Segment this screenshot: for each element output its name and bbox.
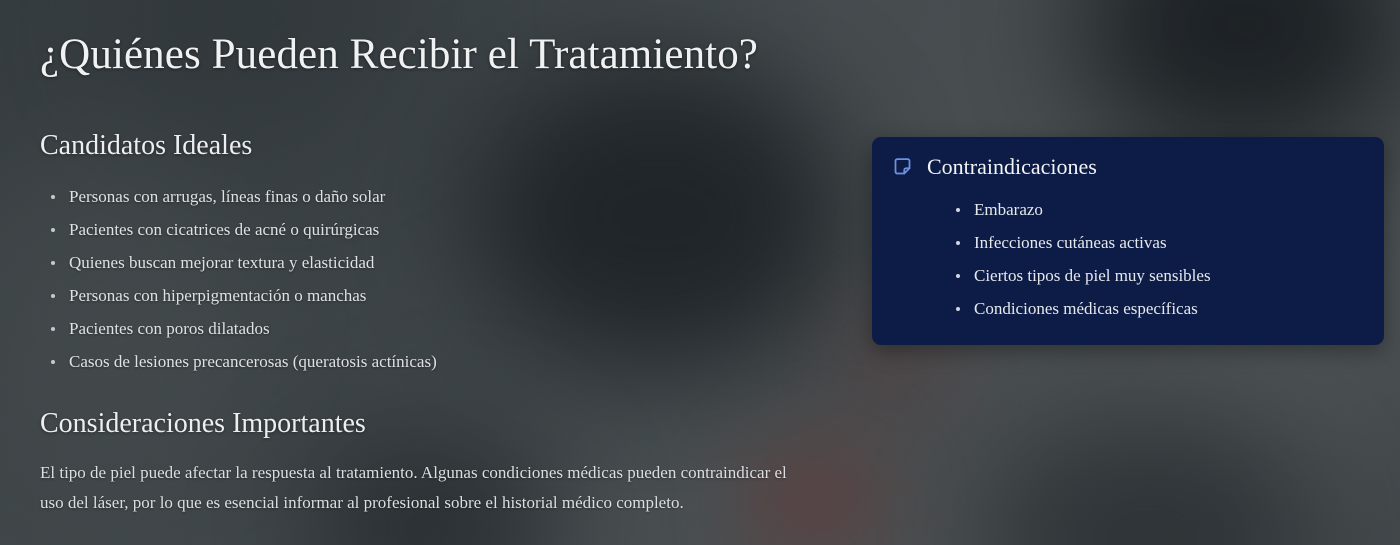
sticky-note-icon bbox=[892, 156, 913, 177]
list-item: Personas con hiperpigmentación o manchas bbox=[40, 279, 840, 312]
candidates-heading: Candidatos Ideales bbox=[40, 128, 840, 164]
contraindications-callout: Contraindicaciones Embarazo Infecciones … bbox=[872, 137, 1384, 345]
list-item: Personas con arrugas, líneas finas o dañ… bbox=[40, 180, 840, 213]
list-item: Infecciones cutáneas activas bbox=[952, 226, 1362, 259]
contraindications-list: Embarazo Infecciones cutáneas activas Ci… bbox=[892, 193, 1362, 325]
list-item: Casos de lesiones precancerosas (querato… bbox=[40, 345, 840, 378]
left-column: Candidatos Ideales Personas con arrugas,… bbox=[40, 128, 840, 518]
page-title: ¿Quiénes Pueden Recibir el Tratamiento? bbox=[40, 30, 758, 79]
list-item: Quienes buscan mejorar textura y elastic… bbox=[40, 246, 840, 279]
list-item: Embarazo bbox=[952, 193, 1362, 226]
callout-title: Contraindicaciones bbox=[927, 153, 1097, 181]
list-item: Pacientes con poros dilatados bbox=[40, 312, 840, 345]
considerations-heading: Consideraciones Importantes bbox=[40, 406, 840, 442]
content-slide: ¿Quiénes Pueden Recibir el Tratamiento? … bbox=[0, 0, 1400, 545]
considerations-paragraph: El tipo de piel puede afectar la respues… bbox=[40, 458, 810, 518]
callout-header: Contraindicaciones bbox=[892, 153, 1362, 181]
list-item: Ciertos tipos de piel muy sensibles bbox=[952, 259, 1362, 292]
list-item: Pacientes con cicatrices de acné o quirú… bbox=[40, 213, 840, 246]
candidates-list: Personas con arrugas, líneas finas o dañ… bbox=[40, 180, 840, 378]
list-item: Condiciones médicas específicas bbox=[952, 292, 1362, 325]
considerations-section: Consideraciones Importantes El tipo de p… bbox=[40, 406, 840, 518]
